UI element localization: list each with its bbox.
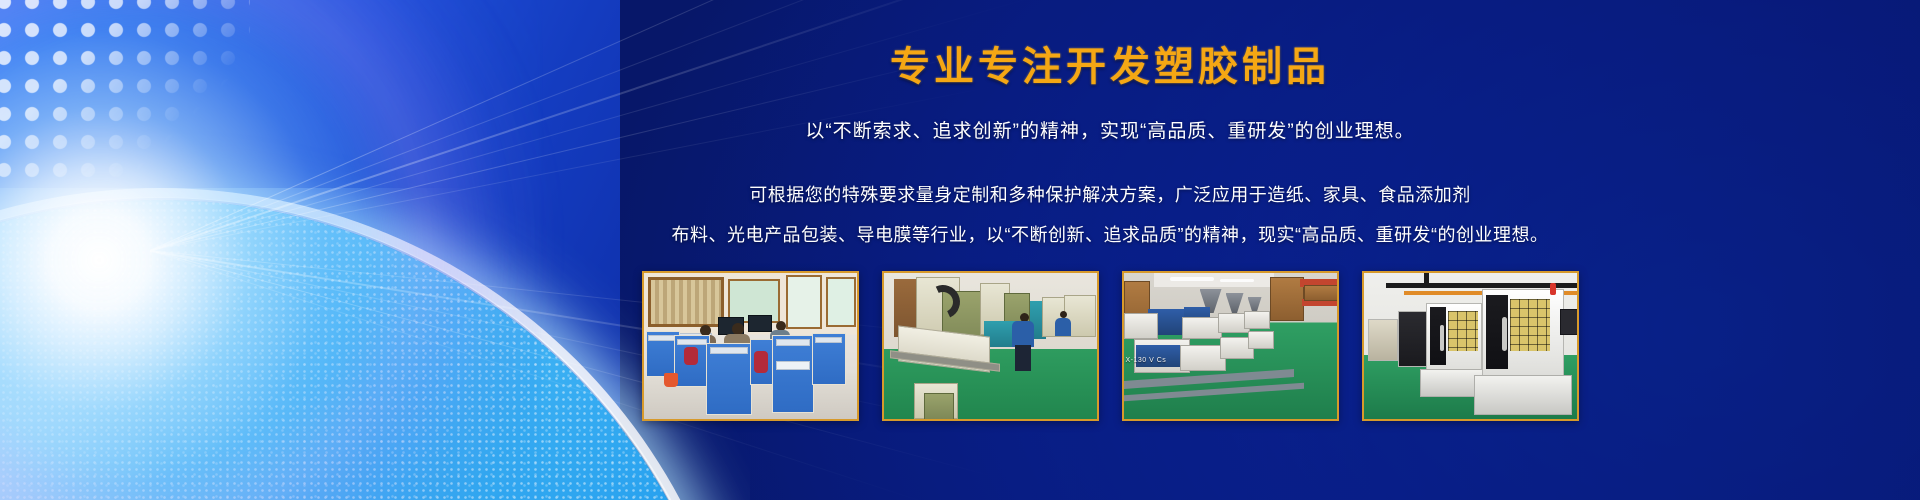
hero-banner: 专业专注开发塑胶制品 以“不断索求、追求创新”的精神，实现“高品质、重研发”的创…: [0, 0, 1920, 500]
body-line-1: 可根据您的特殊要求量身定制和多种保护解决方案，广泛应用于造纸、家具、食品添加剂: [672, 175, 1549, 215]
machine-label: X-130 V Cs: [1126, 357, 1167, 364]
banner-content: 专业专注开发塑胶制品 以“不断索求、追求创新”的精神，实现“高品质、重研发”的创…: [300, 0, 1920, 500]
gallery-photo-injection-molding[interactable]: X-130 V Cs: [1122, 271, 1339, 421]
subtitle: 以“不断索求、追求创新”的精神，实现“高品质、重研发”的创业理想。: [805, 116, 1414, 143]
body-line-2: 布料、光电产品包装、导电膜等行业，以“不断创新、追求品质”的精神，现实“高品质、…: [672, 215, 1549, 255]
gallery-photo-office[interactable]: [642, 271, 859, 421]
gallery-photo-edm-workshop[interactable]: [882, 271, 1099, 421]
page-title: 专业专注开发塑胶制品: [890, 34, 1330, 92]
gallery-photo-cnc[interactable]: [1362, 271, 1579, 421]
photo-gallery: X-130 V Cs: [642, 271, 1579, 421]
halftone-dots: [0, 0, 250, 188]
body-copy: 可根据您的特殊要求量身定制和多种保护解决方案，广泛应用于造纸、家具、食品添加剂 …: [672, 175, 1549, 255]
